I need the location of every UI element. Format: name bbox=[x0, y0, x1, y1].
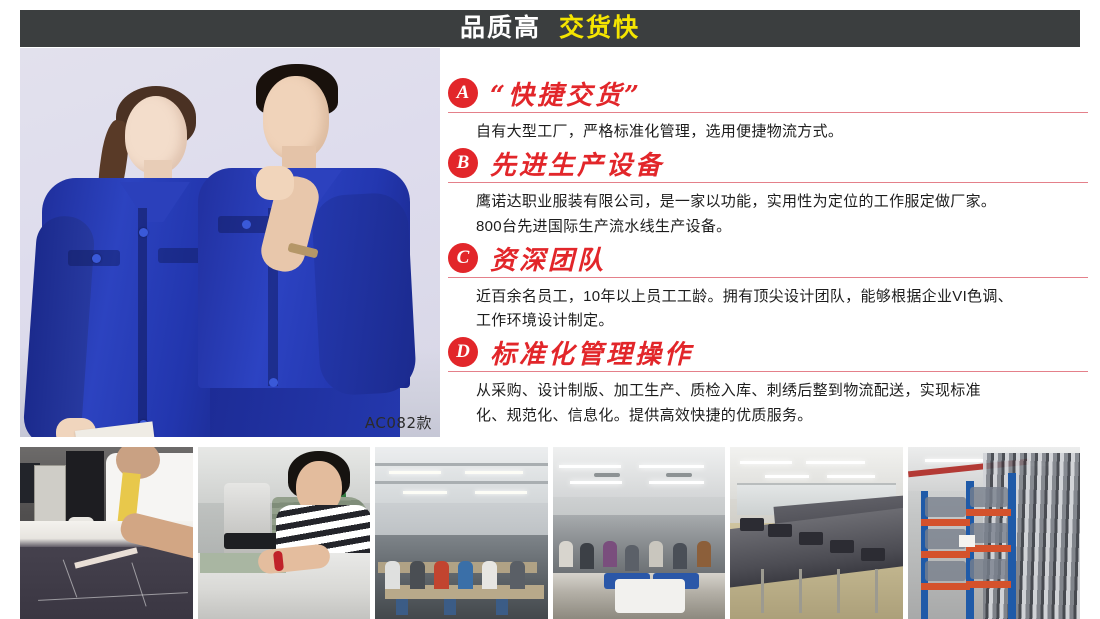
feature-a-body-line-1: 自有大型工厂，严格标准化管理，选用便捷物流方式。 bbox=[476, 120, 1088, 144]
feature-c-badge-icon: C bbox=[448, 243, 478, 273]
feature-a-header: A “快捷交货” bbox=[448, 78, 1088, 113]
feature-item-c: C 资深团队 近百余名员工，10年以上员工工龄。拥有顶尖设计团队，能够根据企业V… bbox=[448, 243, 1088, 334]
strip-photo-sewing-operator bbox=[198, 447, 371, 619]
p6-shelf-1 bbox=[921, 519, 969, 526]
p3-ceiling-lamp-1 bbox=[389, 471, 441, 474]
header-banner: 品质高 交货快 bbox=[20, 10, 1080, 47]
p6-shelf-6 bbox=[966, 581, 1011, 588]
strip-photo-pattern-cutting bbox=[20, 447, 193, 619]
feature-item-d: D 标准化管理操作 从采购、设计制版、加工生产、质检入库、刺绣后整到物流配送，实… bbox=[448, 337, 1088, 428]
strip-photo-warehouse-racks bbox=[908, 447, 1081, 619]
p3-ceiling-lamp-4 bbox=[475, 491, 527, 494]
p5-garment-panel-2 bbox=[768, 524, 792, 537]
p6-bundle-6 bbox=[970, 559, 1008, 579]
p4-worker-2 bbox=[580, 543, 594, 569]
promo-page: 品质高 交货快 AC082款 bbox=[0, 0, 1100, 619]
p3-stool-3 bbox=[496, 599, 508, 615]
male-model-hand bbox=[256, 166, 294, 200]
p3-ceiling-beam-1 bbox=[375, 463, 548, 466]
p5-conveyor-leg-3 bbox=[837, 569, 840, 613]
p3-ceiling-lamp-2 bbox=[465, 471, 524, 474]
feature-b-header: B 先进生产设备 bbox=[448, 148, 1088, 183]
feature-a-body: 自有大型工厂，严格标准化管理，选用便捷物流方式。 bbox=[476, 120, 1088, 144]
p4-worker-4 bbox=[625, 545, 639, 571]
p5-garment-panel-1 bbox=[740, 518, 764, 531]
feature-c-header: C 资深团队 bbox=[448, 243, 1088, 278]
factory-photo-strip bbox=[20, 447, 1080, 619]
feature-d-header: D 标准化管理操作 bbox=[448, 337, 1088, 372]
p3-stool-1 bbox=[396, 599, 408, 615]
feature-item-b: B 先进生产设备 鹰诺达职业服装有限公司，是一家以功能，实用性为定位的工作服定做… bbox=[448, 148, 1088, 239]
p6-bundle-4 bbox=[970, 487, 1008, 507]
p4-worker-6 bbox=[673, 543, 687, 569]
p5-conveyor-leg-1 bbox=[761, 569, 764, 613]
strip-photo-sewing-hall bbox=[553, 447, 726, 619]
feature-d-body: 从采购、设计制版、加工生产、质检入库、刺绣后整到物流配送，实现标准 化、规范化、… bbox=[476, 379, 1088, 428]
p4-ceiling-fan-1 bbox=[594, 473, 620, 477]
p5-conveyor-leg-2 bbox=[799, 569, 802, 613]
p3-worker-2 bbox=[410, 561, 425, 589]
feature-b-title: 先进生产设备 bbox=[490, 153, 664, 180]
p5-conveyor-leg-4 bbox=[875, 569, 878, 613]
p5-ceiling-lamp-2 bbox=[806, 461, 865, 464]
feature-b-body-line-1: 鹰诺达职业服装有限公司，是一家以功能，实用性为定位的工作服定做厂家。 bbox=[476, 190, 1088, 214]
p3-worker-3 bbox=[434, 561, 449, 589]
p6-bundle-5 bbox=[970, 523, 1008, 543]
p3-worker-1 bbox=[385, 561, 400, 589]
p3-ceiling-beam-2 bbox=[375, 481, 548, 484]
male-model-button-hem bbox=[269, 378, 278, 387]
p4-worker-3 bbox=[603, 541, 617, 567]
feature-c-title: 资深团队 bbox=[490, 248, 606, 275]
feature-a-badge-icon: A bbox=[448, 78, 478, 108]
header-title-accent: 交货快 bbox=[559, 16, 640, 41]
male-model-button-pocket bbox=[242, 220, 251, 229]
strip-photo-factory-floor bbox=[375, 447, 548, 619]
p4-worker-5 bbox=[649, 541, 663, 567]
p3-ceiling bbox=[375, 447, 548, 503]
p4-worker-7 bbox=[697, 541, 711, 567]
p3-worker-4 bbox=[458, 561, 473, 589]
p5-ceiling-lamp-1 bbox=[740, 461, 792, 464]
feature-c-body: 近百余名员工，10年以上员工工龄。拥有顶尖设计团队，能够根据企业VI色调、 工作… bbox=[476, 285, 1088, 334]
p3-worker-5 bbox=[482, 561, 497, 589]
p6-bundle-3 bbox=[925, 561, 966, 581]
p5-garment-panel-4 bbox=[830, 540, 854, 553]
p6-inventory-tag bbox=[959, 535, 975, 547]
female-model-button-pocket bbox=[92, 254, 101, 263]
feature-item-a: A “快捷交货” 自有大型工厂，严格标准化管理，选用便捷物流方式。 bbox=[448, 78, 1088, 144]
p6-bundle-1 bbox=[925, 497, 966, 517]
p5-ceiling-lamp-4 bbox=[827, 475, 875, 478]
p4-ceiling-lamp-4 bbox=[649, 481, 704, 484]
p3-worker-6 bbox=[510, 561, 525, 589]
p3-stool-2 bbox=[444, 599, 456, 615]
p1-computer-tower bbox=[34, 465, 66, 529]
female-model-button-collar bbox=[139, 228, 148, 237]
header-title-primary: 品质高 bbox=[460, 16, 541, 41]
p5-ceiling-lamp-3 bbox=[765, 475, 810, 478]
p3-ceiling-lamp-3 bbox=[403, 491, 448, 494]
p5-garment-panel-5 bbox=[861, 548, 885, 561]
feature-d-title: 标准化管理操作 bbox=[490, 342, 693, 369]
feature-d-body-line-2: 化、规范化、信息化。提供高效快捷的优质服务。 bbox=[476, 404, 1088, 428]
p4-ceiling bbox=[553, 447, 726, 497]
p4-worker-1 bbox=[559, 541, 573, 567]
p6-shelf-2 bbox=[921, 551, 969, 558]
female-model-placket bbox=[138, 208, 147, 437]
p6-ceiling-lamp-1 bbox=[925, 459, 984, 462]
feature-c-body-line-1: 近百余名员工，10年以上员工工龄。拥有顶尖设计团队，能够根据企业VI色调、 bbox=[476, 285, 1088, 309]
feature-c-body-line-2: 工作环境设计制定。 bbox=[476, 309, 1088, 333]
feature-b-badge-icon: B bbox=[448, 148, 478, 178]
p5-garment-panel-3 bbox=[799, 532, 823, 545]
feature-d-badge-icon: D bbox=[448, 337, 478, 367]
hero-product-photo: AC082款 bbox=[20, 48, 440, 437]
p4-ceiling-lamp-1 bbox=[559, 465, 621, 468]
feature-b-body: 鹰诺达职业服装有限公司，是一家以功能，实用性为定位的工作服定做厂家。 800台先… bbox=[476, 190, 1088, 239]
male-model-sleeve bbox=[311, 192, 417, 397]
strip-photo-conveyor-line bbox=[730, 447, 903, 619]
feature-a-title: “快捷交货” bbox=[490, 83, 642, 110]
product-code-label: AC082款 bbox=[365, 412, 432, 433]
p4-ceiling-fan-2 bbox=[666, 473, 692, 477]
p4-ceiling-lamp-2 bbox=[639, 465, 705, 468]
p4-ceiling-lamp-3 bbox=[570, 481, 622, 484]
p6-shelf-4 bbox=[966, 509, 1011, 516]
feature-list: A “快捷交货” 自有大型工厂，严格标准化管理，选用便捷物流方式。 B 先进生产… bbox=[448, 78, 1088, 432]
p4-white-cloth bbox=[615, 579, 685, 613]
feature-b-body-line-2: 800台先进国际生产流水线生产设备。 bbox=[476, 215, 1088, 239]
p6-shelf-3 bbox=[921, 583, 969, 590]
p2-red-bracelet bbox=[272, 551, 283, 572]
feature-d-body-line-1: 从采购、设计制版、加工生产、质检入库、刺绣后整到物流配送，实现标准 bbox=[476, 379, 1088, 403]
p1-background-person-legs bbox=[66, 451, 104, 527]
